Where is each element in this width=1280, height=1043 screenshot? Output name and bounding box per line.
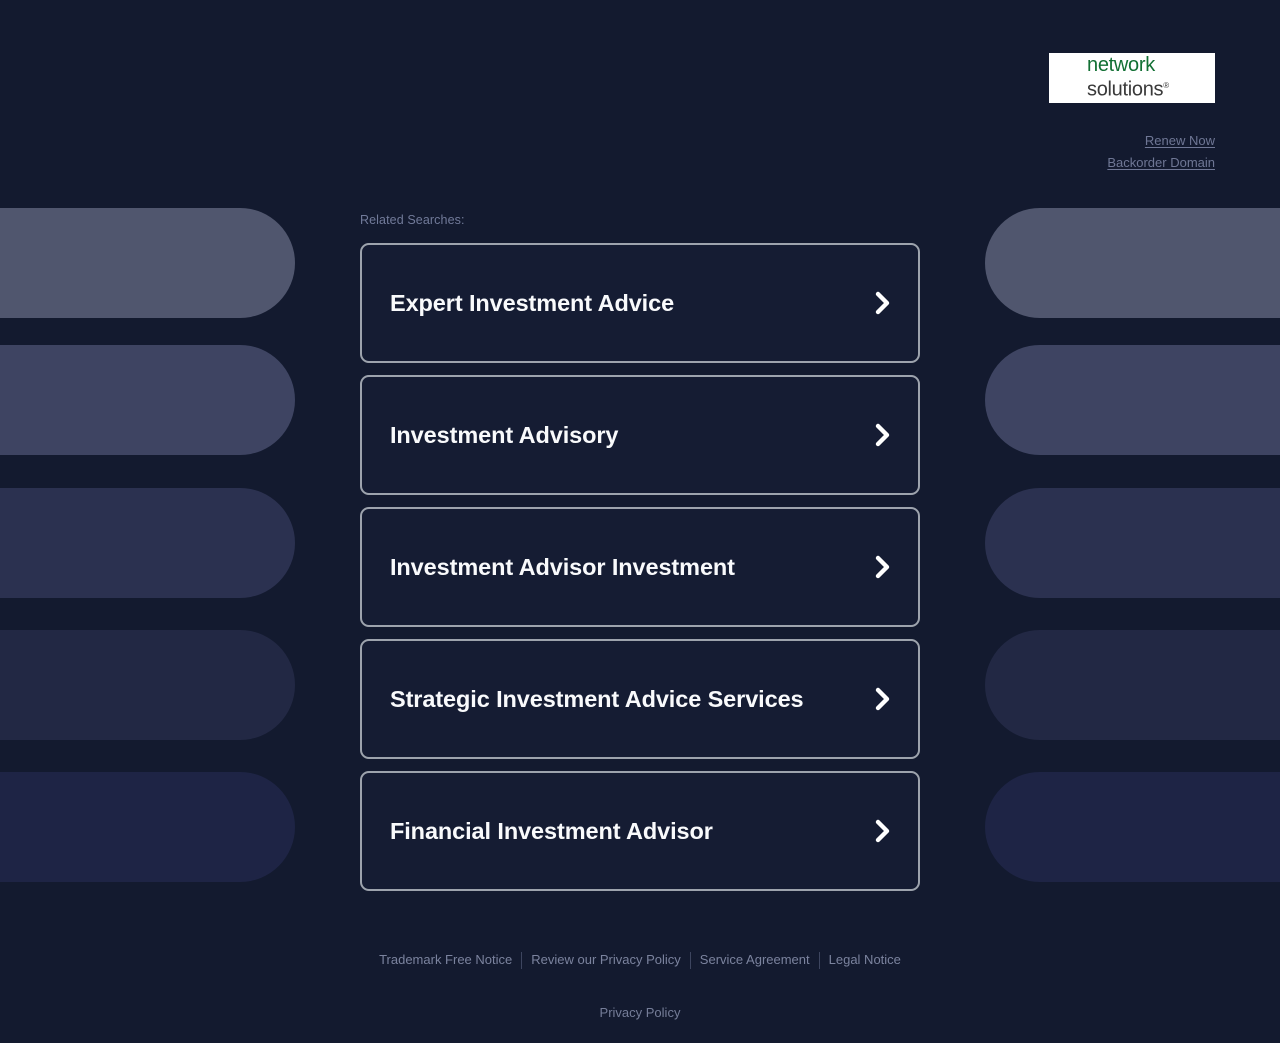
privacy-policy-row: Privacy Policy [0, 1004, 1280, 1022]
related-search-title: Financial Investment Advisor [390, 817, 713, 846]
decorative-pill-right-5 [985, 772, 1280, 882]
decorative-pill-left-1 [0, 208, 295, 318]
related-searches-list: Expert Investment AdviceInvestment Advis… [360, 243, 920, 891]
registered-trademark-icon: ® [1163, 81, 1169, 90]
header-links: Renew Now Backorder Domain [1107, 130, 1215, 173]
related-search-title: Strategic Investment Advice Services [390, 685, 804, 714]
chevron-right-icon [870, 818, 896, 844]
related-search-title: Investment Advisor Investment [390, 553, 735, 582]
main-content: Related Searches: Expert Investment Advi… [360, 213, 920, 891]
decorative-pill-left-5 [0, 772, 295, 882]
renew-now-link[interactable]: Renew Now [1107, 130, 1215, 152]
privacy-policy-link[interactable]: Privacy Policy [600, 1005, 681, 1020]
chevron-right-icon [870, 290, 896, 316]
parked-domain-page: network solutions® Renew Now Backorder D… [0, 0, 1280, 1043]
decorative-pill-right-2 [985, 345, 1280, 455]
decorative-pill-right-4 [985, 630, 1280, 740]
decorative-pill-right-3 [985, 488, 1280, 598]
related-searches-label: Related Searches: [360, 213, 920, 227]
footer-link[interactable]: Legal Notice [820, 948, 910, 972]
chevron-right-icon [870, 686, 896, 712]
backorder-domain-link[interactable]: Backorder Domain [1107, 152, 1215, 174]
chevron-right-icon [870, 554, 896, 580]
decorative-pill-left-2 [0, 345, 295, 455]
chevron-right-icon [870, 422, 896, 448]
decorative-pill-right-1 [985, 208, 1280, 318]
footer-links: Trademark Free NoticeReview our Privacy … [370, 948, 910, 972]
decorative-pill-left-4 [0, 630, 295, 740]
related-search-card[interactable]: Expert Investment Advice [360, 243, 920, 363]
decorative-pill-left-3 [0, 488, 295, 598]
related-search-card[interactable]: Investment Advisory [360, 375, 920, 495]
related-search-card[interactable]: Investment Advisor Investment [360, 507, 920, 627]
logo-text-solutions: solutions® [1087, 75, 1215, 101]
related-search-card[interactable]: Strategic Investment Advice Services [360, 639, 920, 759]
footer-link[interactable]: Service Agreement [691, 948, 819, 972]
related-search-title: Investment Advisory [390, 421, 618, 450]
related-search-card[interactable]: Financial Investment Advisor [360, 771, 920, 891]
footer-link[interactable]: Trademark Free Notice [370, 948, 521, 972]
related-search-title: Expert Investment Advice [390, 289, 674, 318]
network-solutions-logo[interactable]: network solutions® [1049, 53, 1215, 103]
logo-solutions-word: solutions [1087, 79, 1163, 101]
logo-text-network: network [1087, 55, 1215, 75]
footer-link[interactable]: Review our Privacy Policy [522, 948, 690, 972]
footer: Trademark Free NoticeReview our Privacy … [0, 948, 1280, 972]
